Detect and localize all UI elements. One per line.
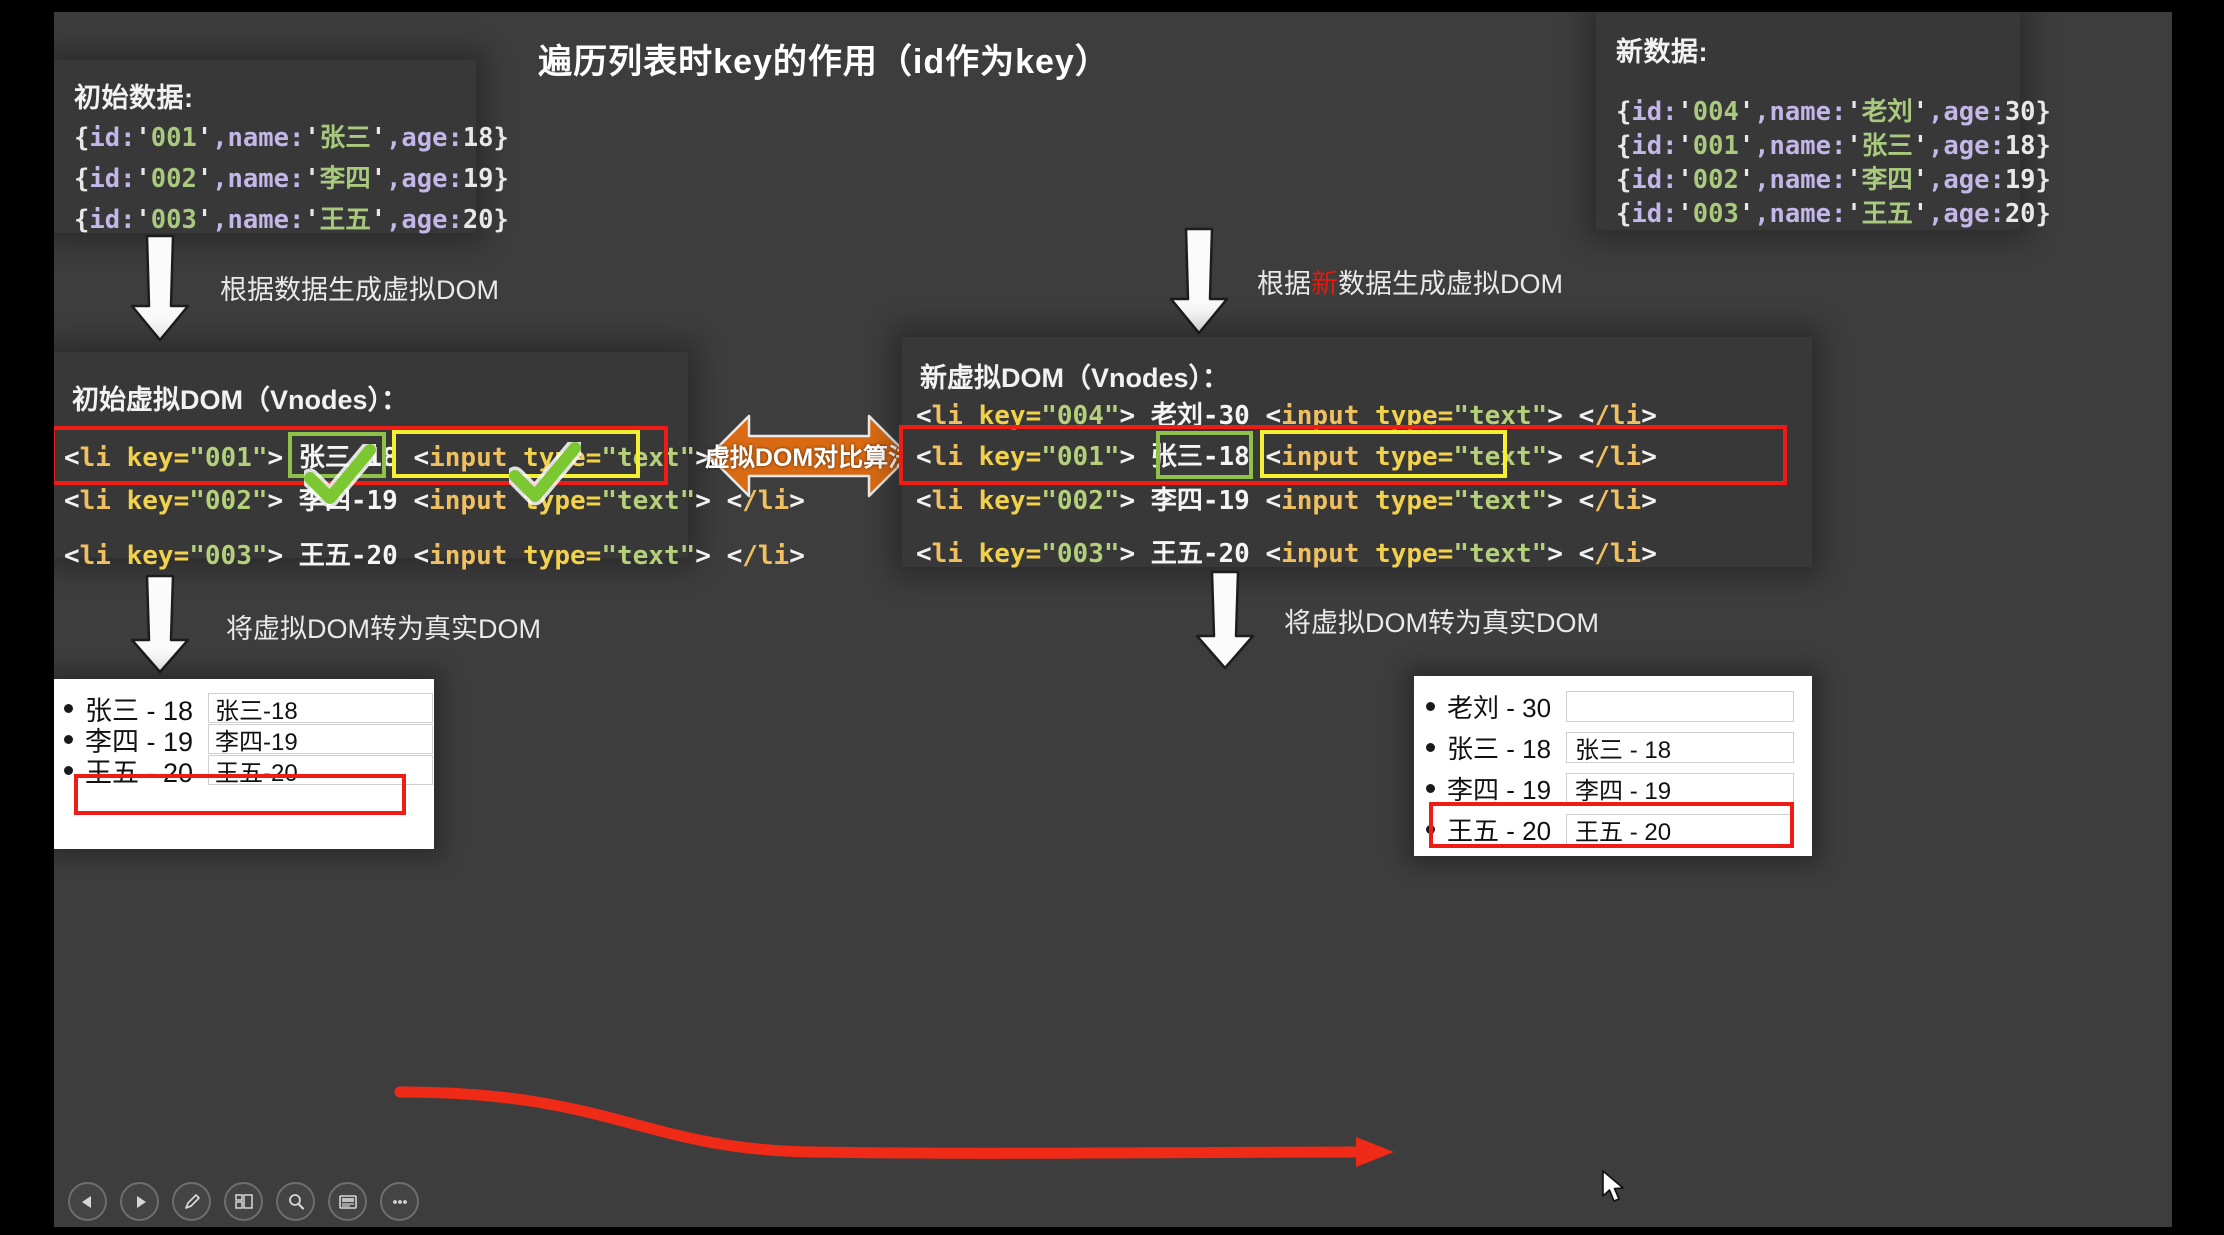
vdom-line: <li key="002"> 李四-19 <input type="text">… [64, 480, 805, 517]
vdom-line-text: 李四-19 [299, 486, 414, 516]
vdom-line-text: 老刘-30 [1151, 401, 1266, 431]
data-object-id-key: id: [89, 164, 135, 194]
screen-icon [336, 1190, 360, 1214]
vdom-line-lt: < [64, 443, 80, 473]
data-object-age-key: ,age: [1928, 131, 2005, 161]
vdom-line-input-tag: input [429, 443, 523, 473]
bullet-icon [64, 766, 73, 775]
list-item-label: 老刘 - 30 [1447, 688, 1551, 725]
generate-vdom-label-left: 根据数据生成虚拟DOM [220, 268, 499, 307]
vdom-line-input-lt: < [1265, 539, 1281, 569]
vdom-line-key-value: "003" [189, 541, 267, 571]
vdom-line-input-value: "text" [1453, 486, 1547, 516]
vdom-line-lt: < [916, 486, 932, 516]
vdom-line-lt: < [64, 486, 80, 516]
triangle-right-icon [128, 1190, 152, 1214]
data-object-age-key: ,age: [1928, 97, 2005, 127]
list-item: 王五 - 20王五 - 20 [1414, 811, 1812, 848]
data-object-age-value: 20 [2005, 199, 2036, 229]
vdom-line-lt: < [916, 539, 932, 569]
vdom-line-input-value: "text" [1453, 539, 1547, 569]
vdom-line-input-tag: input [1281, 442, 1375, 472]
list-item-label: 王五 - 20 [1447, 811, 1551, 848]
data-object-id-key: id: [1631, 131, 1677, 161]
data-object-id-value: 004 [1693, 97, 1739, 127]
data-object-age-value: 20 [463, 205, 494, 235]
vdom-line-key-value: "002" [189, 486, 267, 516]
data-object-age-value: 18 [2005, 131, 2036, 161]
initial-real-dom-box: 张三 - 18张三-18李四 - 19李四-19王五 - 20王五-20 [54, 679, 434, 849]
generate-vdom-label-left-text: 根据数据生成虚拟DOM [220, 275, 499, 305]
vdom-line-close-lt: < [1579, 539, 1595, 569]
vdom-line-text: 王五-20 [299, 541, 414, 571]
list-item-label: 李四 - 19 [1447, 770, 1551, 807]
vdom-line-close-lt: < [1579, 486, 1595, 516]
new-data-rows: {id:'004',name:'老刘',age:30}{id:'001',nam… [1616, 95, 2002, 231]
vdom-line-text: 张三-18 [1151, 442, 1266, 472]
data-object-row: {id:'001',name:'张三',age:18} [74, 121, 458, 156]
vdom-line-input-value: "text" [1453, 401, 1547, 431]
generate-vdom-arrow-left [129, 234, 191, 342]
vdom-line-close-tag: /li [1594, 486, 1641, 516]
text-input[interactable]: 王五 - 20 [1566, 814, 1794, 845]
vdom-line-input-gt: > [1547, 486, 1578, 516]
vdom-line: <li key="003"> 王五-20 <input type="text">… [916, 533, 1657, 570]
data-object-age-value: 19 [2005, 165, 2036, 195]
vdom-line-key-value: "004" [1041, 401, 1119, 431]
vdom-line-input-gt: > [695, 541, 726, 571]
data-object-id-key: id: [89, 123, 135, 153]
new-vdom-title: 新虚拟DOM（Vnodes）： [920, 356, 1229, 395]
new-data-title: 新数据: [1616, 30, 2002, 69]
slide-toolbar[interactable] [68, 1182, 419, 1221]
vdom-line-gt: > [268, 541, 299, 571]
data-object-row: {id:'002',name:'李四',age:19} [1616, 163, 2002, 197]
vdom-line-input-attr: type= [1375, 539, 1453, 569]
list-item: 张三 - 18张三-18 [54, 693, 434, 723]
vdom-line-key-attr: key= [979, 539, 1042, 569]
text-input[interactable]: 王五-20 [208, 755, 433, 785]
vdom-line-close-lt: < [727, 541, 743, 571]
vdom-line-input-lt: < [413, 443, 429, 473]
data-object-id-key: id: [89, 205, 135, 235]
initial-data-title: 初始数据: [74, 76, 458, 115]
vdom-line-gt: > [1120, 401, 1151, 431]
bullet-icon [1426, 743, 1435, 752]
list-item: 李四 - 19李四 - 19 [1414, 770, 1812, 807]
initial-vdom-title: 初始虚拟DOM（Vnodes）： [72, 378, 408, 417]
vdom-line-input-tag: input [1281, 486, 1375, 516]
vdom-line-key-attr: key= [127, 486, 190, 516]
vdom-line: <li key="002"> 李四-19 <input type="text">… [916, 480, 1657, 517]
render-real-dom-arrow-right [1194, 570, 1256, 670]
list-item: 老刘 - 30 [1414, 688, 1812, 725]
vdom-line-input-tag: input [1281, 401, 1375, 431]
presenter-view-button[interactable] [328, 1182, 367, 1221]
vdom-line-input-lt: < [413, 541, 429, 571]
vdom-line-key-attr: key= [979, 442, 1042, 472]
vdom-line-text: 王五-20 [1151, 539, 1266, 569]
vdom-line-close-gt: > [1641, 442, 1657, 472]
data-object-row: {id:'002',name:'李四',age:19} [74, 162, 458, 197]
bullet-icon [1426, 825, 1435, 834]
generate-vdom-label-right-suffix: 数据生成虚拟DOM [1338, 269, 1563, 299]
data-object-id-value: 003 [1693, 199, 1739, 229]
vdom-line-close-lt: < [1579, 401, 1595, 431]
vdom-line-input-gt: > [1547, 539, 1578, 569]
slide-overview-button[interactable] [224, 1182, 263, 1221]
vdom-line-input-lt: < [413, 486, 429, 516]
vdom-line-key-value: "003" [1041, 539, 1119, 569]
new-real-dom-rows: 老刘 - 30张三 - 18张三 - 18李四 - 19李四 - 19王五 - … [1414, 676, 1812, 848]
initial-data-panel: 初始数据: {id:'001',name:'张三',age:18}{id:'00… [54, 60, 476, 233]
triangle-left-icon [76, 1190, 100, 1214]
new-data-panel: 新数据: {id:'004',name:'老刘',age:30}{id:'001… [1596, 12, 2020, 230]
initial-vdom-panel: 初始虚拟DOM（Vnodes）： <li key="001"> 张三-18 <i… [54, 352, 688, 558]
vdom-line-lt: < [916, 442, 932, 472]
vdom-line: <li key="004"> 老刘-30 <input type="text">… [916, 395, 1657, 432]
vdom-line-input-attr: type= [1375, 401, 1453, 431]
data-object-id-value: 003 [151, 205, 197, 235]
vdom-line-input-lt: < [1265, 442, 1281, 472]
data-object-id-value: 001 [151, 123, 197, 153]
data-object-name-key: ,name: [212, 164, 304, 194]
data-object-name-key: ,name: [1754, 165, 1846, 195]
vdom-line-input-gt: > [1547, 401, 1578, 431]
ellipsis-icon [388, 1190, 412, 1214]
vdom-line-tag: li [932, 401, 979, 431]
vdom-line-input-gt: > [1547, 442, 1578, 472]
list-item: 王五 - 20王五-20 [54, 755, 434, 785]
list-item: 李四 - 19李四-19 [54, 724, 434, 754]
text-input[interactable] [1566, 691, 1794, 722]
data-object-age-key: ,age: [1928, 199, 2005, 229]
vdom-line-key-attr: key= [127, 541, 190, 571]
vdom-line-input-tag: input [1281, 539, 1375, 569]
render-real-dom-label-left: 将虚拟DOM转为真实DOM [226, 607, 541, 646]
vdom-diff-algorithm-label: 虚拟DOM对比算法 [709, 410, 909, 502]
list-item: 张三 - 18张三 - 18 [1414, 729, 1812, 766]
data-object-id-key: id: [1631, 165, 1677, 195]
vdom-line-close-tag: /li [742, 541, 789, 571]
generate-vdom-arrow-right [1168, 227, 1230, 335]
data-object-age-key: ,age: [1928, 165, 2005, 195]
vdom-line-tag: li [932, 539, 979, 569]
vdom-line-close-gt: > [1641, 539, 1657, 569]
vdom-line-input-attr: type= [1375, 486, 1453, 516]
generate-vdom-label-right: 根据新数据生成虚拟DOM [1257, 262, 1563, 301]
vdom-line-tag: li [80, 541, 127, 571]
data-object-id-key: id: [1631, 97, 1677, 127]
vdom-line-close-gt: > [789, 541, 805, 571]
data-object-name-key: ,name: [1754, 97, 1846, 127]
data-object-name-key: ,name: [212, 205, 304, 235]
vdom-line-input-value: "text" [601, 541, 695, 571]
vdom-line-gt: > [1120, 539, 1151, 569]
vdom-line-input-attr: type= [1375, 442, 1453, 472]
data-object-name-key: ,name: [1754, 199, 1846, 229]
vdom-line-key-value: "002" [1041, 486, 1119, 516]
bullet-icon [1426, 784, 1435, 793]
data-object-age-value: 18 [463, 123, 494, 153]
vdom-line: <li key="003"> 王五-20 <input type="text">… [64, 535, 805, 572]
vdom-line-lt: < [64, 541, 80, 571]
vdom-line-tag: li [932, 486, 979, 516]
data-object-name-value: 李四 [320, 164, 371, 194]
data-object-name-value: 老刘 [1862, 97, 1913, 127]
vdom-line-close-tag: /li [1594, 442, 1641, 472]
vdom-line-input-attr: type= [523, 443, 601, 473]
generate-vdom-label-right-highlight: 新 [1311, 269, 1338, 299]
vdom-line-key-value: "001" [1041, 442, 1119, 472]
data-object-name-key: ,name: [1754, 131, 1846, 161]
render-real-dom-label-right: 将虚拟DOM转为真实DOM [1284, 601, 1599, 640]
vdom-line-text: 张三-18 [299, 443, 414, 473]
vdom-line-gt: > [1120, 442, 1151, 472]
vdom-line: <li key="001"> 张三-18 <input type="text">… [916, 436, 1657, 473]
render-real-dom-arrow-left [129, 574, 191, 674]
bullet-icon [1426, 702, 1435, 711]
vdom-line-close-gt: > [1641, 486, 1657, 516]
previous-slide-button[interactable] [68, 1182, 107, 1221]
data-object-name-value: 张三 [320, 123, 371, 153]
data-object-age-value: 19 [463, 164, 494, 194]
list-item-label: 王五 - 20 [85, 751, 193, 790]
data-object-row: {id:'004',name:'老刘',age:30} [1616, 95, 2002, 129]
vdom-line-gt: > [268, 486, 299, 516]
data-object-row: {id:'001',name:'张三',age:18} [1616, 129, 2002, 163]
generate-vdom-label-right-prefix: 根据 [1257, 269, 1311, 299]
vdom-line-close-tag: /li [1594, 539, 1641, 569]
vdom-line-text: 李四-19 [1151, 486, 1266, 516]
bullet-icon [64, 704, 73, 713]
data-object-name-value: 李四 [1862, 165, 1913, 195]
magnifier-icon [284, 1190, 308, 1214]
more-options-button[interactable] [380, 1182, 419, 1221]
vdom-line-input-attr: type= [523, 486, 601, 516]
data-object-age-key: ,age: [386, 164, 463, 194]
text-input[interactable]: 李四-19 [208, 724, 433, 754]
data-object-row: {id:'003',name:'王五',age:20} [74, 203, 458, 238]
text-input[interactable]: 张三-18 [208, 693, 433, 723]
zoom-button[interactable] [276, 1182, 315, 1221]
data-object-id-value: 002 [151, 164, 197, 194]
vdom-line-tag: li [80, 443, 127, 473]
vdom-line-input-value: "text" [601, 486, 695, 516]
data-object-name-value: 张三 [1862, 131, 1913, 161]
data-object-age-value: 30 [2005, 97, 2036, 127]
vdom-line-gt: > [1120, 486, 1151, 516]
text-input[interactable]: 李四 - 19 [1566, 773, 1794, 804]
data-object-id-key: id: [1631, 199, 1677, 229]
next-slide-button[interactable] [120, 1182, 159, 1221]
data-object-name-key: ,name: [212, 123, 304, 153]
pen-button[interactable] [172, 1182, 211, 1221]
vdom-line-lt: < [916, 401, 932, 431]
data-object-age-key: ,age: [386, 123, 463, 153]
new-vdom-panel: 新虚拟DOM（Vnodes）： <li key="004"> 老刘-30 <in… [902, 337, 1812, 567]
data-object-id-value: 002 [1693, 165, 1739, 195]
vdom-line-input-tag: input [429, 486, 523, 516]
vdom-line-close-gt: > [1641, 401, 1657, 431]
data-object-id-value: 001 [1693, 131, 1739, 161]
grid-layout-icon [232, 1190, 256, 1214]
vdom-line-key-attr: key= [979, 486, 1042, 516]
data-object-name-value: 王五 [320, 205, 371, 235]
vdom-diff-algorithm-arrow: 虚拟DOM对比算法 [709, 410, 909, 502]
mouse-cursor [1602, 1170, 1628, 1211]
pen-icon [180, 1190, 204, 1214]
vdom-line-tag: li [80, 486, 127, 516]
initial-data-rows: {id:'001',name:'张三',age:18}{id:'002',nam… [74, 121, 458, 238]
vdom-line: <li key="001"> 张三-18 <input type="text">… [64, 437, 805, 474]
vdom-line-gt: > [268, 443, 299, 473]
vdom-line-key-attr: key= [979, 401, 1042, 431]
data-object-name-value: 王五 [1862, 199, 1913, 229]
bullet-icon [64, 735, 73, 744]
initial-real-dom-rows: 张三 - 18张三-18李四 - 19李四-19王五 - 20王五-20 [54, 679, 434, 785]
vdom-line-key-attr: key= [127, 443, 190, 473]
vdom-line-input-lt: < [1265, 401, 1281, 431]
data-object-row: {id:'003',name:'王五',age:20} [1616, 197, 2002, 231]
vdom-line-tag: li [932, 442, 979, 472]
data-object-age-key: ,age: [386, 205, 463, 235]
screenshot-root: 遍历列表时key的作用（id作为key） 初始数据: {id:'001',nam… [0, 0, 2224, 1235]
new-real-dom-box: 老刘 - 30张三 - 18张三 - 18李四 - 19李四 - 19王五 - … [1414, 676, 1812, 856]
vdom-line-close-lt: < [1579, 442, 1595, 472]
vdom-line-input-lt: < [1265, 486, 1281, 516]
vdom-line-input-value: "text" [1453, 442, 1547, 472]
text-input[interactable]: 张三 - 18 [1566, 732, 1794, 763]
list-item-label: 张三 - 18 [1447, 729, 1551, 766]
vdom-line-close-tag: /li [1594, 401, 1641, 431]
vdom-line-key-value: "001" [189, 443, 267, 473]
slide-canvas: 遍历列表时key的作用（id作为key） 初始数据: {id:'001',nam… [54, 12, 2172, 1227]
vdom-line-input-value: "text" [601, 443, 695, 473]
vdom-line-input-attr: type= [523, 541, 601, 571]
moved-node-connector-arrow [394, 1072, 1434, 1182]
vdom-line-input-tag: input [429, 541, 523, 571]
